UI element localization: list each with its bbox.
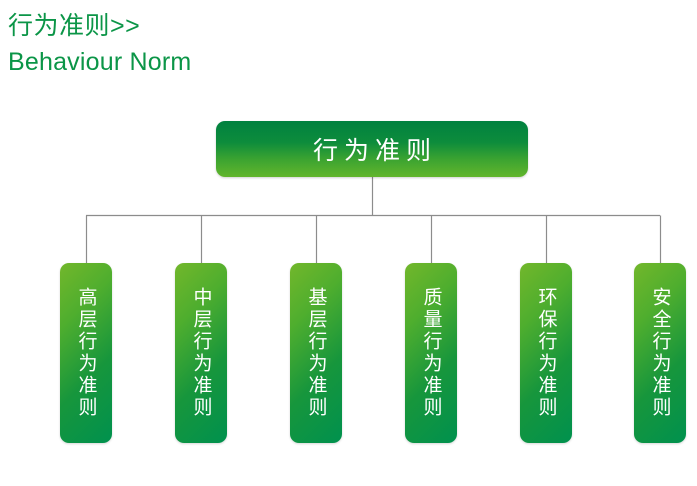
org-node-child-5-label: 环保行为准则 (534, 287, 559, 419)
org-node-child-4[interactable]: 质量行为准则 (405, 263, 457, 443)
org-node-root-label: 行为准则 (307, 131, 437, 167)
org-node-child-2-label: 中层行为准则 (189, 287, 214, 419)
org-node-child-1-label: 高层行为准则 (74, 287, 99, 419)
org-node-child-1[interactable]: 高层行为准则 (60, 263, 112, 443)
org-node-child-5[interactable]: 环保行为准则 (520, 263, 572, 443)
org-node-child-4-label: 质量行为准则 (419, 287, 444, 419)
org-node-child-6-label: 安全行为准则 (648, 287, 673, 419)
org-node-child-3-label: 基层行为准则 (304, 287, 329, 419)
org-chart: 行为准则 高层行为准则 中层行为准则 基层行为准则 质量行为准则 环保行为准则 … (0, 0, 697, 486)
org-node-root[interactable]: 行为准则 (216, 121, 528, 177)
org-node-child-3[interactable]: 基层行为准则 (290, 263, 342, 443)
org-node-child-2[interactable]: 中层行为准则 (175, 263, 227, 443)
org-node-child-6[interactable]: 安全行为准则 (634, 263, 686, 443)
